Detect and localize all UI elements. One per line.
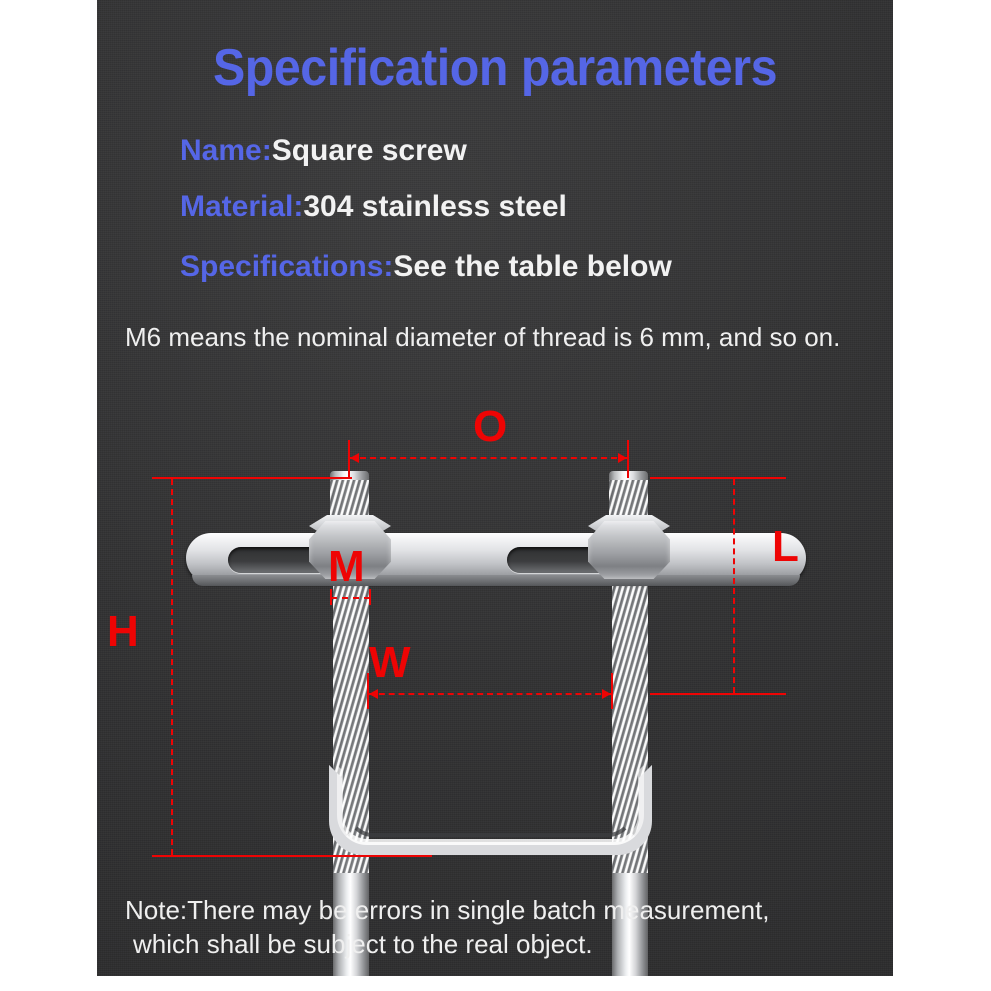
dimension-H-line [171, 479, 173, 855]
mounting-plate-edge [192, 575, 800, 586]
product-diagram: O L M H W [97, 395, 893, 875]
spec-label-material: Material: [180, 190, 303, 223]
page-title: Specification parameters [125, 38, 865, 98]
u-bend-shadow [347, 765, 634, 837]
dimension-W-line [369, 693, 611, 695]
dimension-O-line [350, 457, 627, 459]
note-line-1: Note:There may be errors in single batch… [125, 895, 770, 925]
dimension-L-tick-top [650, 477, 786, 479]
dimension-H-tick-bottom [152, 855, 432, 857]
dimension-label-W: W [369, 641, 411, 685]
spec-row-material: Material:304 stainless steel [180, 192, 567, 222]
dimension-O-arrow-right [618, 453, 627, 463]
note-line-2: which shall be subject to the real objec… [125, 927, 885, 961]
dimension-O-arrow-left [350, 453, 359, 463]
right-hex-nut-front [588, 521, 670, 579]
spec-row-specifications: Specifications:See the table below [180, 252, 672, 282]
spec-value-material: 304 stainless steel [303, 190, 567, 223]
spec-value-specifications: See the table below [393, 250, 671, 283]
description-text: M6 means the nominal diameter of thread … [125, 320, 875, 354]
spec-value-name: Square screw [272, 134, 467, 167]
dimension-label-H: H [107, 610, 139, 654]
dimension-H-tick-top [152, 477, 352, 479]
dimension-M-line [331, 597, 370, 599]
dimension-W-arrow-left [369, 689, 378, 699]
note-text: Note:There may be errors in single batch… [125, 893, 885, 962]
dimension-W-arrow-right [602, 689, 611, 699]
spec-row-name: Name:Square screw [180, 136, 467, 166]
spec-panel: Specification parameters Name:Square scr… [97, 0, 893, 976]
dimension-L-line [733, 479, 735, 693]
dimension-label-O: O [473, 405, 507, 449]
dimension-label-L: L [772, 525, 799, 569]
spec-label-specifications: Specifications: [180, 250, 393, 283]
dimension-O-tick-right [627, 440, 629, 478]
product-spec-image: Specification parameters Name:Square scr… [0, 0, 991, 991]
spec-label-name: Name: [180, 134, 272, 167]
dimension-label-M: M [328, 545, 365, 589]
dimension-W-tick-right [611, 673, 613, 709]
dimension-L-tick-bottom [650, 693, 786, 695]
